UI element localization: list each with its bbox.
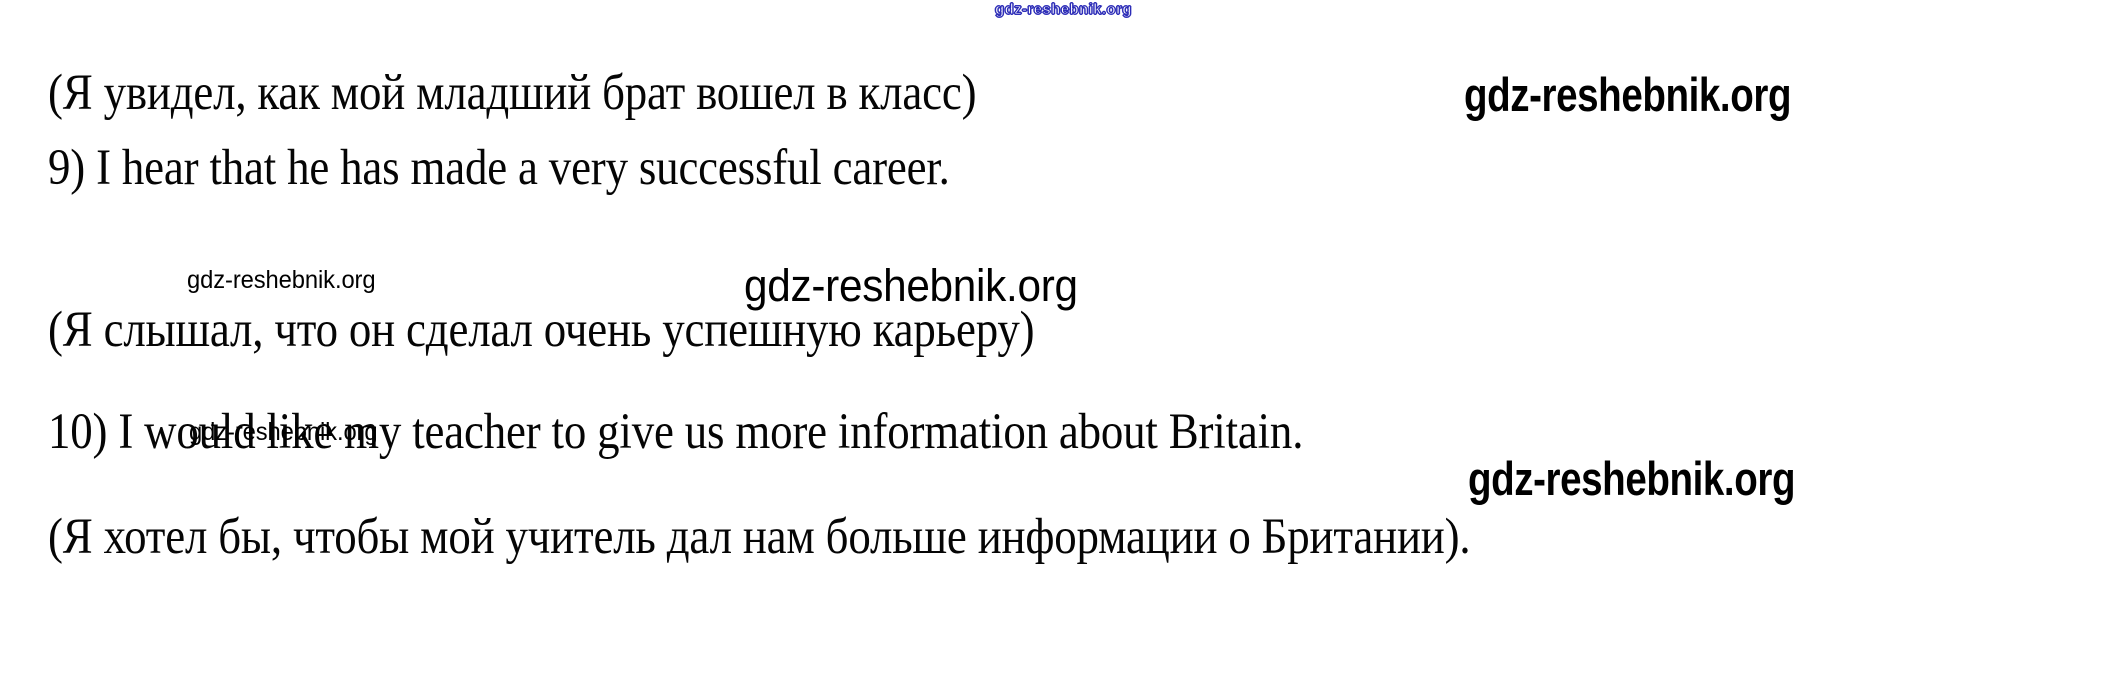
watermark-overlay-4: gdz-reshebnik.org (189, 420, 378, 445)
translation-line-9: (Я слышал, что он сделал очень успешную … (48, 305, 1034, 356)
translation-line-8: (Я увидел, как мой младший брат вошел в … (48, 68, 976, 119)
answer-line-9: 9) I hear that he has made a very succes… (48, 143, 950, 194)
watermark-top-banner: gdz-reshebnik.org (995, 2, 1132, 17)
watermark-overlay-5: gdz-reshebnik.org (1468, 455, 1795, 502)
watermark-overlay-2: gdz-reshebnik.org (187, 268, 376, 293)
document-page: gdz-reshebnik.org (Я увидел, как мой мла… (0, 0, 2106, 692)
watermark-overlay-1: gdz-reshebnik.org (1464, 71, 1791, 118)
translation-line-10: (Я хотел бы, чтобы мой учитель дал нам б… (48, 512, 1470, 563)
